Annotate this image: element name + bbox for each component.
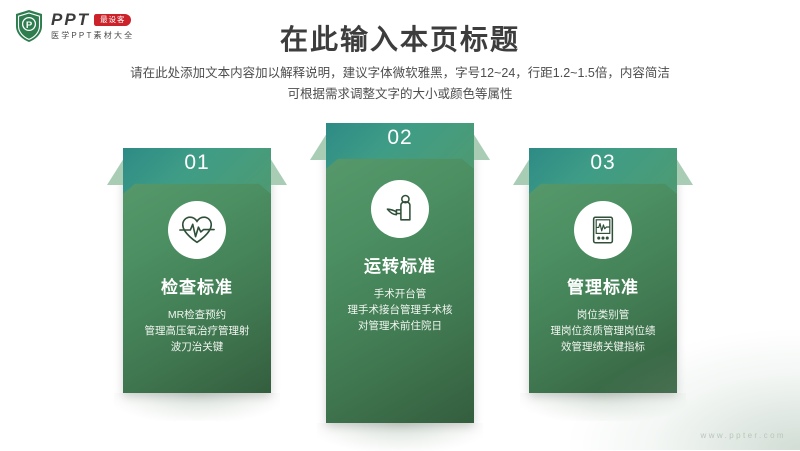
card-content: 运转标准 手术开台管 理手术接台管理手术核 对管理术前住院日 [326, 180, 474, 334]
card-desc-line-2: 理岗位资质管理岗位绩 [535, 323, 671, 339]
card-desc-line-1: 岗位类别管 [535, 307, 671, 323]
card-title: 检查标准 [123, 273, 271, 298]
ribbon-banner: 02 [326, 123, 474, 169]
ribbon-banner: 03 [529, 148, 677, 194]
card-desc-line-3: 效管理绩关键指标 [535, 339, 671, 355]
ribbon-wing-left [513, 158, 530, 185]
card-shadow [317, 423, 483, 451]
ribbon-wing-left [310, 133, 327, 160]
card-body: 运转标准 手术开台管 理手术接台管理手术核 对管理术前住院日 [326, 150, 474, 423]
card-number: 01 [184, 148, 209, 178]
card-description: MR检查预约 管理高压氧治疗管理射 波刀治关键 [123, 307, 271, 355]
card-number: 03 [590, 148, 615, 178]
card-ribbon: 01 [107, 148, 287, 194]
card-number: 02 [387, 123, 412, 153]
ribbon-wing-right [473, 133, 490, 160]
ecg-monitor-icon [574, 201, 632, 259]
card-ribbon: 03 [513, 148, 693, 194]
card-desc-line-1: MR检查预约 [129, 307, 265, 323]
card-content: 检查标准 MR检查预约 管理高压氧治疗管理射 波刀治关键 [123, 201, 271, 355]
card-desc-line-1: 手术开台管 [332, 286, 468, 302]
card-ribbon: 02 [310, 123, 490, 169]
ribbon-wing-right [270, 158, 287, 185]
card-title: 管理标准 [529, 273, 677, 298]
card-body: 检查标准 MR检查预约 管理高压氧治疗管理射 波刀治关键 [123, 175, 271, 393]
card-desc-line-2: 理手术接台管理手术核 [332, 302, 468, 318]
patient-care-icon [371, 180, 429, 238]
site-watermark: www.ppter.com [701, 431, 786, 440]
card-title: 运转标准 [326, 252, 474, 277]
card-body: 管理标准 岗位类别管 理岗位资质管理岗位绩 效管理绩关键指标 [529, 175, 677, 393]
card-shadow [520, 393, 686, 421]
card-description: 手术开台管 理手术接台管理手术核 对管理术前住院日 [326, 286, 474, 334]
card-item-2[interactable]: 运转标准 手术开台管 理手术接台管理手术核 对管理术前住院日 02 [326, 150, 474, 423]
card-item-3[interactable]: 管理标准 岗位类别管 理岗位资质管理岗位绩 效管理绩关键指标 03 [529, 175, 677, 393]
card-shadow [114, 393, 280, 421]
ribbon-banner: 01 [123, 148, 271, 194]
card-item-1[interactable]: 检查标准 MR检查预约 管理高压氧治疗管理射 波刀治关键 01 [123, 175, 271, 393]
heart-pulse-icon [168, 201, 226, 259]
card-desc-line-3: 对管理术前住院日 [332, 318, 468, 334]
card-desc-line-3: 波刀治关键 [129, 339, 265, 355]
ribbon-wing-right [676, 158, 693, 185]
ribbon-wing-left [107, 158, 124, 185]
card-description: 岗位类别管 理岗位资质管理岗位绩 效管理绩关键指标 [529, 307, 677, 355]
card-desc-line-2: 管理高压氧治疗管理射 [129, 323, 265, 339]
card-content: 管理标准 岗位类别管 理岗位资质管理岗位绩 效管理绩关键指标 [529, 201, 677, 355]
card-group: 检查标准 MR检查预约 管理高压氧治疗管理射 波刀治关键 01 [0, 0, 800, 450]
